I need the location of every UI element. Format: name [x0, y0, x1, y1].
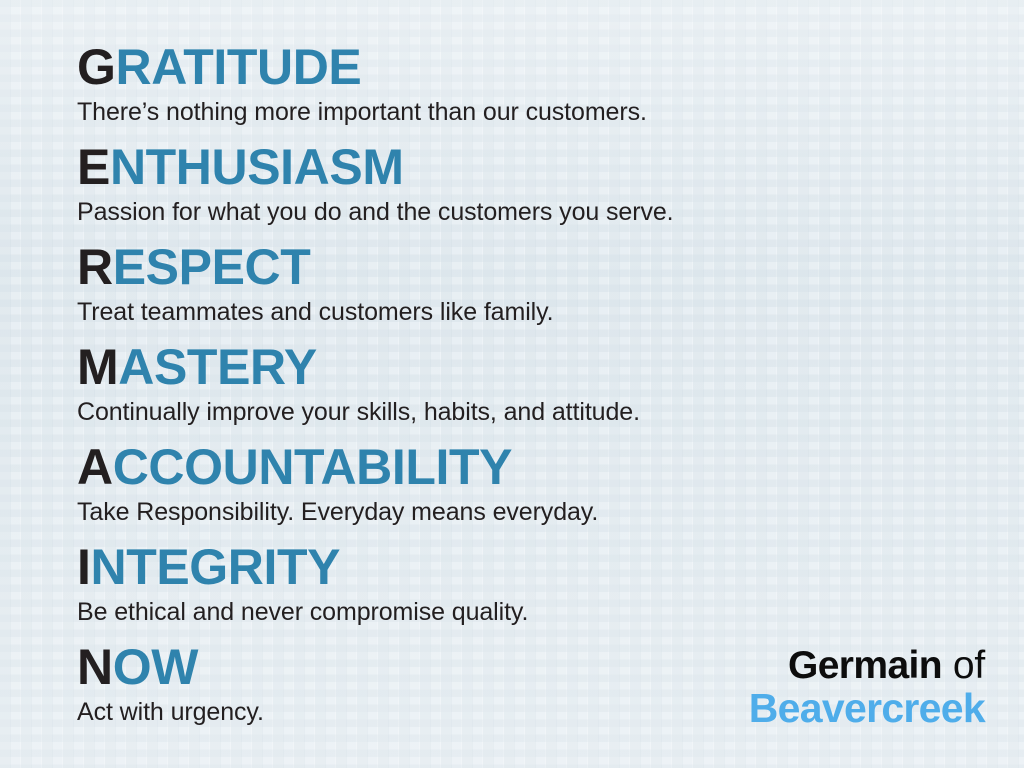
value-initial-letter: G	[77, 39, 116, 95]
value-heading-gratitude: GRATITUDE	[77, 38, 977, 92]
value-heading-remainder: ASTERY	[118, 339, 317, 395]
value-heading-integrity: INTEGRITY	[77, 538, 977, 592]
value-description-enthusiasm: Passion for what you do and the customer…	[77, 192, 977, 227]
value-heading-remainder: RATITUDE	[116, 39, 362, 95]
value-initial-letter: I	[77, 539, 91, 595]
value-heading-enthusiasm: ENTHUSIASM	[77, 138, 977, 192]
value-description-integrity: Be ethical and never compromise quality.	[77, 592, 977, 627]
value-initial-letter: N	[77, 639, 113, 695]
value-heading-remainder: NTEGRITY	[91, 539, 341, 595]
value-block-integrity: INTEGRITY Be ethical and never compromis…	[77, 538, 977, 638]
core-values-list: GRATITUDE There’s nothing more important…	[77, 38, 977, 738]
value-heading-remainder: CCOUNTABILITY	[113, 439, 512, 495]
value-heading-remainder: ESPECT	[113, 239, 311, 295]
value-initial-letter: E	[77, 139, 110, 195]
value-block-respect: RESPECT Treat teammates and customers li…	[77, 238, 977, 338]
core-values-slide: GRATITUDE There’s nothing more important…	[0, 0, 1024, 768]
value-initial-letter: M	[77, 339, 118, 395]
value-description-respect: Treat teammates and customers like famil…	[77, 292, 977, 327]
value-heading-remainder: NTHUSIASM	[110, 139, 404, 195]
logo-connector-word: of	[953, 644, 985, 687]
value-block-enthusiasm: ENTHUSIASM Passion for what you do and t…	[77, 138, 977, 238]
value-description-gratitude: There’s nothing more important than our …	[77, 92, 977, 127]
value-initial-letter: R	[77, 239, 113, 295]
logo-line-primary: Germain of	[749, 645, 985, 686]
logo-location-name: Beavercreek	[749, 686, 985, 730]
value-heading-respect: RESPECT	[77, 238, 977, 292]
value-initial-letter: A	[77, 439, 113, 495]
value-block-mastery: MASTERY Continually improve your skills,…	[77, 338, 977, 438]
value-heading-accountability: ACCOUNTABILITY	[77, 438, 977, 492]
dealership-logo: Germain of Beavercreek	[749, 645, 985, 730]
value-description-accountability: Take Responsibility. Everyday means ever…	[77, 492, 977, 527]
value-block-gratitude: GRATITUDE There’s nothing more important…	[77, 38, 977, 138]
value-heading-remainder: OW	[113, 639, 198, 695]
value-description-mastery: Continually improve your skills, habits,…	[77, 392, 977, 427]
value-block-accountability: ACCOUNTABILITY Take Responsibility. Ever…	[77, 438, 977, 538]
value-heading-mastery: MASTERY	[77, 338, 977, 392]
logo-brand-name: Germain	[788, 644, 942, 687]
